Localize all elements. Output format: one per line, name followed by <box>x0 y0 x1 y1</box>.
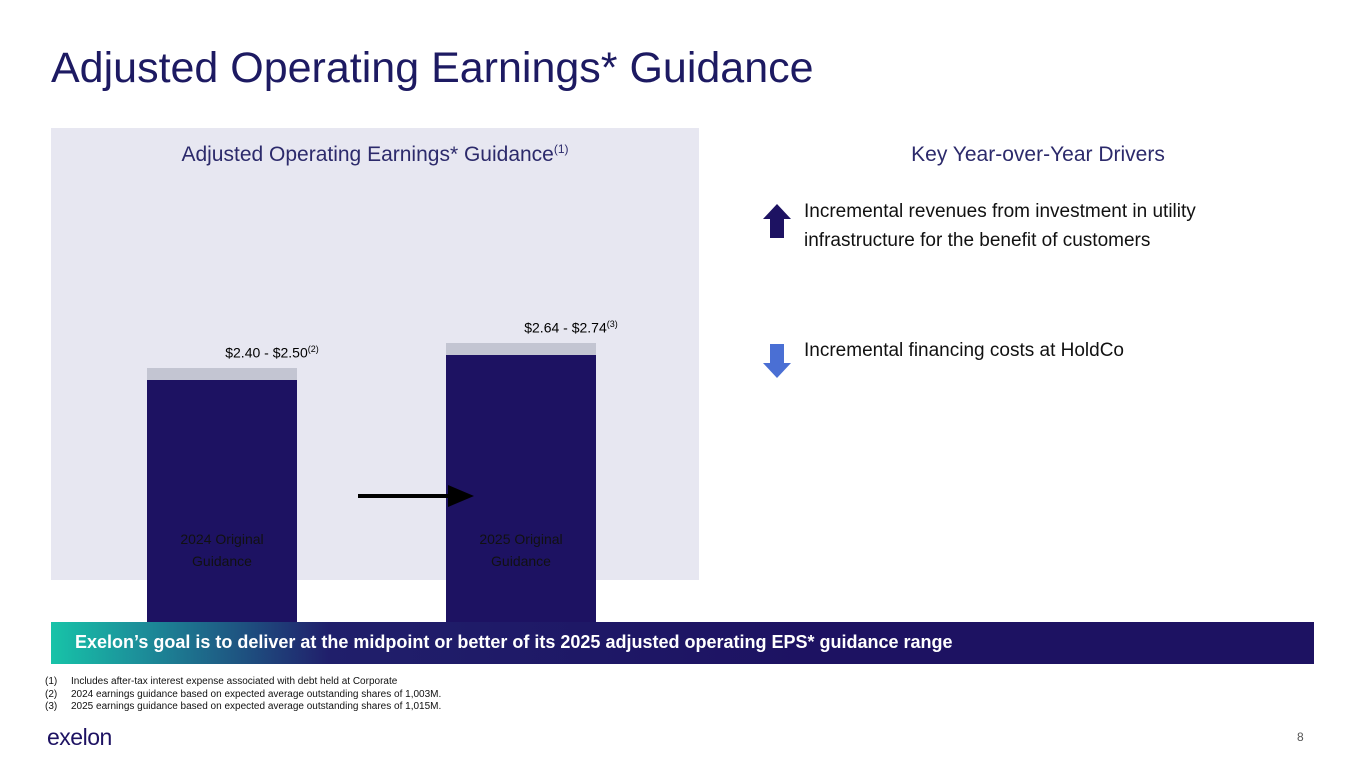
category-label-2024-line1: 2024 Original <box>122 528 322 550</box>
driver-text-2: Incremental financing costs at HoldCo <box>804 336 1124 365</box>
slide: Adjusted Operating Earnings* Guidance Ad… <box>0 0 1365 768</box>
footnote-num-2: (2) <box>45 689 71 702</box>
transition-arrow-icon <box>356 476 476 516</box>
arrow-up-icon <box>762 204 792 240</box>
bar-value-label-2024: $2.40 - $2.50(2) <box>147 344 397 361</box>
driver-text-1: Incremental revenues from investment in … <box>804 197 1282 255</box>
drivers-title: Key Year-over-Year Drivers <box>760 143 1316 167</box>
footnote-row-2: (2)2024 earnings guidance based on expec… <box>45 689 441 702</box>
footnote-text-2: 2024 earnings guidance based on expected… <box>71 689 441 700</box>
bar-range-cap-2024 <box>147 368 297 380</box>
bar-value-text-2024: $2.40 - $2.50 <box>225 345 308 361</box>
category-label-2024: 2024 Original Guidance <box>122 528 322 572</box>
category-label-2025: 2025 Original Guidance <box>421 528 621 572</box>
bar-range-cap-2025 <box>446 343 596 355</box>
arrow-down-icon <box>762 343 792 379</box>
category-label-2025-line1: 2025 Original <box>421 528 621 550</box>
footnote-text-3: 2025 earnings guidance based on expected… <box>71 701 441 712</box>
category-label-2025-line2: Guidance <box>421 550 621 572</box>
bar-value-footnote-ref-2025: (3) <box>607 319 618 329</box>
exelon-logo: exelon <box>47 724 112 751</box>
footnote-num-3: (3) <box>45 701 71 714</box>
bar-value-footnote-ref-2024: (2) <box>308 344 319 354</box>
page-number: 8 <box>1297 730 1304 744</box>
bar-value-label-2025: $2.64 - $2.74(3) <box>446 319 696 336</box>
category-label-2024-line2: Guidance <box>122 550 322 572</box>
bar-value-text-2025: $2.64 - $2.74 <box>524 320 607 336</box>
page-title: Adjusted Operating Earnings* Guidance <box>51 44 814 93</box>
footnote-text-1: Includes after-tax interest expense asso… <box>71 676 397 687</box>
goal-banner-text: Exelon’s goal is to deliver at the midpo… <box>75 632 953 653</box>
goal-banner: Exelon’s goal is to deliver at the midpo… <box>51 622 1314 664</box>
footnote-row-3: (3)2025 earnings guidance based on expec… <box>45 701 441 714</box>
footnote-row-1: (1)Includes after-tax interest expense a… <box>45 676 441 689</box>
chart-panel: Adjusted Operating Earnings* Guidance(1)… <box>51 128 699 580</box>
chart-plot-area: $2.40 - $2.50(2) $2.64 - $2.74(3) 2024 O… <box>51 128 699 580</box>
bar-2024 <box>147 380 297 648</box>
footnotes: (1)Includes after-tax interest expense a… <box>45 676 441 714</box>
footnote-num-1: (1) <box>45 676 71 689</box>
